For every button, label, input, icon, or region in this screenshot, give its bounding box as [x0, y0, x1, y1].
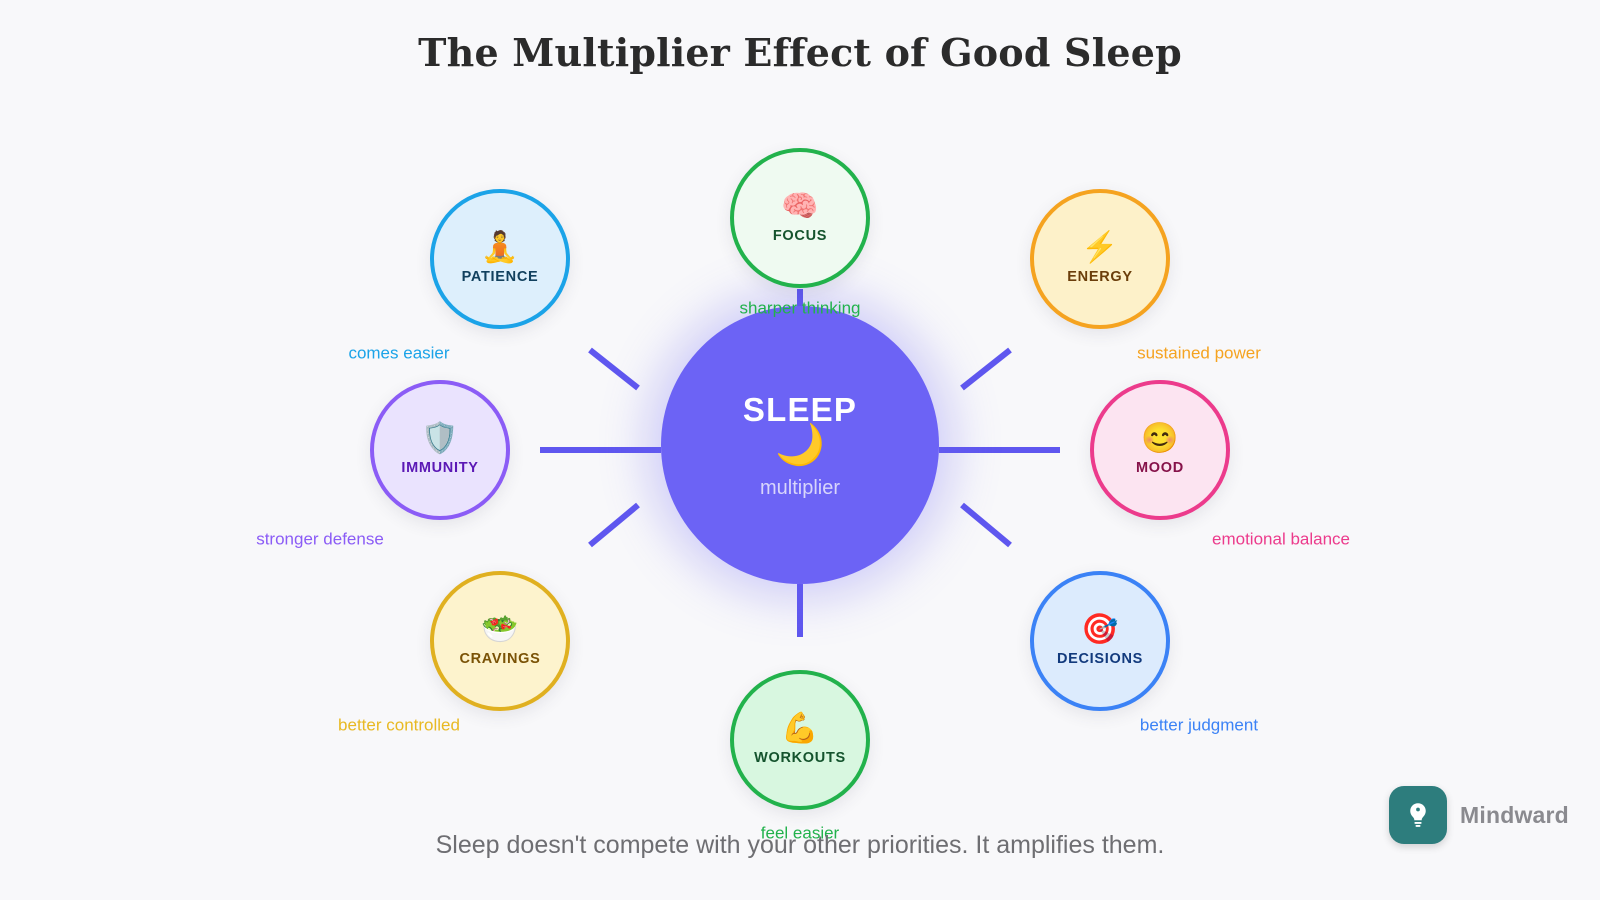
- shield-emoji: 🛡️: [421, 424, 458, 454]
- green-salad-emoji: 🥗: [481, 615, 518, 645]
- caption-focus: sharper thinking: [740, 300, 861, 317]
- page-title: The Multiplier Effect of Good Sleep: [0, 30, 1600, 75]
- node-label-energy: ENERGY: [1067, 270, 1132, 285]
- node-immunity[interactable]: 🛡️IMMUNITY: [370, 380, 510, 520]
- crescent-moon-emoji: 🌙: [775, 424, 825, 466]
- caption-cravings: better controlled: [338, 717, 460, 734]
- node-focus[interactable]: 🧠FOCUS: [730, 148, 870, 288]
- node-label-decisions: DECISIONS: [1057, 652, 1143, 667]
- connector-energy: [962, 350, 1010, 388]
- brain-emoji: 🧠: [781, 192, 818, 222]
- hub-subtitle: multiplier: [760, 478, 840, 498]
- lightbulb-icon: [1389, 786, 1447, 844]
- infographic-canvas: The Multiplier Effect of Good Sleep SLEE…: [0, 0, 1600, 900]
- smiling-face-emoji: 😊: [1141, 424, 1178, 454]
- node-label-workouts: WORKOUTS: [754, 751, 846, 766]
- node-label-immunity: IMMUNITY: [401, 461, 478, 476]
- node-workouts[interactable]: 💪WORKOUTS: [730, 670, 870, 810]
- caption-immunity: stronger defense: [256, 531, 384, 548]
- flexed-biceps-emoji: 💪: [781, 714, 818, 744]
- node-label-patience: PATIENCE: [462, 270, 539, 285]
- caption-decisions: better judgment: [1140, 717, 1258, 734]
- hub-title: SLEEP: [743, 393, 857, 426]
- connector-decisions: [962, 505, 1010, 545]
- footer-tagline: Sleep doesn't compete with your other pr…: [0, 831, 1600, 860]
- connector-cravings: [590, 505, 638, 545]
- brand-name: Mindward: [1460, 802, 1569, 829]
- node-patience[interactable]: 🧘PATIENCE: [430, 189, 570, 329]
- node-label-cravings: CRAVINGS: [459, 652, 540, 667]
- direct-hit-emoji: 🎯: [1081, 615, 1118, 645]
- person-in-lotus-position-emoji: 🧘: [481, 233, 518, 263]
- caption-patience: comes easier: [348, 345, 449, 362]
- node-mood[interactable]: 😊MOOD: [1090, 380, 1230, 520]
- connector-patience: [590, 350, 638, 388]
- caption-energy: sustained power: [1137, 345, 1261, 362]
- high-voltage-emoji: ⚡: [1081, 233, 1118, 263]
- caption-mood: emotional balance: [1212, 531, 1350, 548]
- node-energy[interactable]: ⚡ENERGY: [1030, 189, 1170, 329]
- node-label-focus: FOCUS: [773, 229, 827, 244]
- brand-logo[interactable]: Mindward: [1389, 786, 1569, 844]
- node-decisions[interactable]: 🎯DECISIONS: [1030, 571, 1170, 711]
- node-cravings[interactable]: 🥗CRAVINGS: [430, 571, 570, 711]
- node-label-mood: MOOD: [1136, 461, 1184, 476]
- hub-node-sleep[interactable]: SLEEP 🌙 multiplier: [661, 306, 939, 584]
